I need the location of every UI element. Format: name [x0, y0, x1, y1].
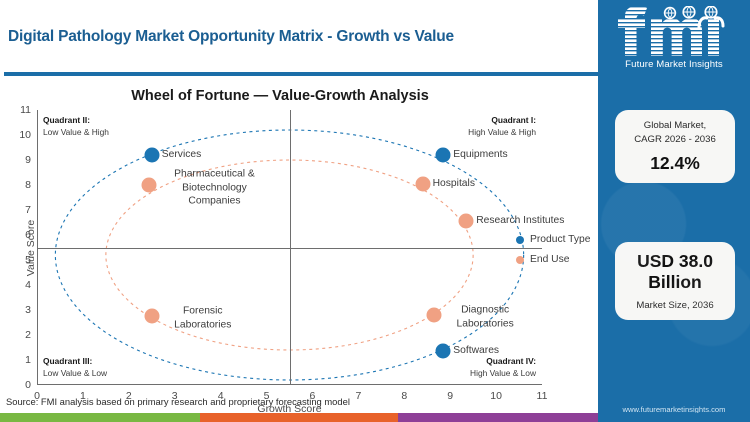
- fmi-logo: Future Market Insights: [598, 6, 750, 78]
- x-tick-11: 11: [537, 390, 548, 402]
- quadrant-iii-desc: Low Value & Low: [43, 368, 107, 378]
- y-axis-label: Value Score: [25, 219, 37, 275]
- x-tick-10: 10: [490, 390, 502, 402]
- cagr-card: Global Market, CAGR 2026 - 2036 12.4%: [615, 110, 735, 183]
- colorbar-segment-1: [0, 413, 200, 422]
- x-tick-8: 8: [401, 390, 407, 402]
- quadrant-label-ii: Quadrant II: Low Value & High: [43, 114, 109, 138]
- data-point-forensic-laboratories[interactable]: [144, 309, 159, 324]
- market-size-card: USD 38.0 Billion Market Size, 2036: [615, 242, 735, 320]
- legend-swatch-icon: [516, 256, 524, 264]
- market-size-value-line2: Billion: [621, 272, 729, 293]
- fmi-logo-icon: [615, 6, 733, 58]
- quadrant-label-iii: Quadrant III: Low Value & Low: [43, 355, 107, 379]
- y-tick-4: 4: [25, 279, 31, 291]
- y-tick-3: 3: [25, 304, 31, 316]
- legend-swatch-icon: [516, 236, 524, 244]
- market-size-caption: Market Size, 2036: [621, 300, 729, 311]
- y-tick-2: 2: [25, 329, 31, 341]
- quadrant-iii-title: Quadrant III:: [43, 355, 107, 367]
- y-tick-7: 7: [25, 204, 31, 216]
- x-tick-9: 9: [447, 390, 453, 402]
- data-label-pharmaceutical-biotechnology-companies: Pharmaceutical & Biotechnology Companies: [155, 168, 273, 209]
- data-point-equipments[interactable]: [436, 148, 451, 163]
- cagr-value: 12.4%: [621, 153, 729, 174]
- bottom-color-bar: [0, 413, 750, 422]
- data-label-forensic-laboratories: Forensic Laboratories: [160, 305, 246, 332]
- page-title: Digital Pathology Market Opportunity Mat…: [8, 28, 588, 46]
- legend-item-end-use[interactable]: End Use: [516, 254, 590, 265]
- chart-container: Wheel of Fortune — Value-Growth Analysis…: [0, 82, 598, 392]
- main-content-area: Digital Pathology Market Opportunity Mat…: [0, 0, 598, 422]
- y-tick-0: 0: [25, 379, 31, 391]
- quadrant-divider-horizontal: [37, 248, 542, 250]
- quadrant-label-iv: Quadrant IV: High Value & Low: [470, 355, 536, 379]
- data-point-research-institutes[interactable]: [459, 214, 474, 229]
- chart-title: Wheel of Fortune — Value-Growth Analysis: [0, 88, 560, 104]
- source-note: Source: FMI analysis based on primary re…: [6, 396, 350, 407]
- market-size-value-line1: USD 38.0: [621, 251, 729, 272]
- data-point-softwares[interactable]: [436, 344, 451, 359]
- data-label-softwares: Softwares: [453, 344, 499, 358]
- data-point-hospitals[interactable]: [415, 176, 430, 191]
- colorbar-segment-2: [200, 413, 398, 422]
- quadrant-ii-desc: Low Value & High: [43, 127, 109, 137]
- colorbar-segment-4: [598, 413, 750, 422]
- legend-label: Product Type: [530, 234, 590, 245]
- y-tick-11: 11: [20, 104, 31, 116]
- quadrant-ii-title: Quadrant II:: [43, 114, 109, 126]
- y-tick-9: 9: [25, 154, 31, 166]
- quadrant-i-desc: High Value & High: [468, 127, 536, 137]
- quadrant-label-i: Quadrant I: High Value & High: [468, 114, 536, 138]
- y-tick-8: 8: [25, 179, 31, 191]
- chart-legend: Product TypeEnd Use: [516, 234, 590, 274]
- data-label-equipments: Equipments: [453, 148, 507, 162]
- sidebar-panel: Future Market Insights Global Market, CA…: [598, 0, 750, 422]
- cagr-card-line2: CAGR 2026 - 2036: [621, 133, 729, 147]
- data-point-diagnostic-laboratories[interactable]: [427, 308, 442, 323]
- scatter-plot-area: 01234567891011 01234567891011 Value Scor…: [37, 110, 542, 385]
- x-tick-7: 7: [355, 390, 361, 402]
- legend-item-product-type[interactable]: Product Type: [516, 234, 590, 245]
- y-tick-1: 1: [25, 354, 31, 366]
- data-point-services[interactable]: [144, 148, 159, 163]
- infographic-root: Digital Pathology Market Opportunity Mat…: [0, 0, 750, 422]
- header-divider: [4, 72, 598, 76]
- fmi-logo-tagline: Future Market Insights: [598, 59, 750, 70]
- data-label-research-institutes: Research Institutes: [476, 214, 564, 228]
- cagr-card-line1: Global Market,: [621, 119, 729, 133]
- data-label-hospitals: Hospitals: [433, 177, 475, 191]
- legend-label: End Use: [530, 254, 570, 265]
- quadrant-i-title: Quadrant I:: [468, 114, 536, 126]
- data-label-services: Services: [162, 148, 201, 162]
- y-tick-10: 10: [19, 129, 31, 141]
- quadrant-iv-desc: High Value & Low: [470, 368, 536, 378]
- colorbar-segment-3: [398, 413, 598, 422]
- data-label-diagnostic-laboratories: Diagnostic Laboratories: [442, 303, 528, 330]
